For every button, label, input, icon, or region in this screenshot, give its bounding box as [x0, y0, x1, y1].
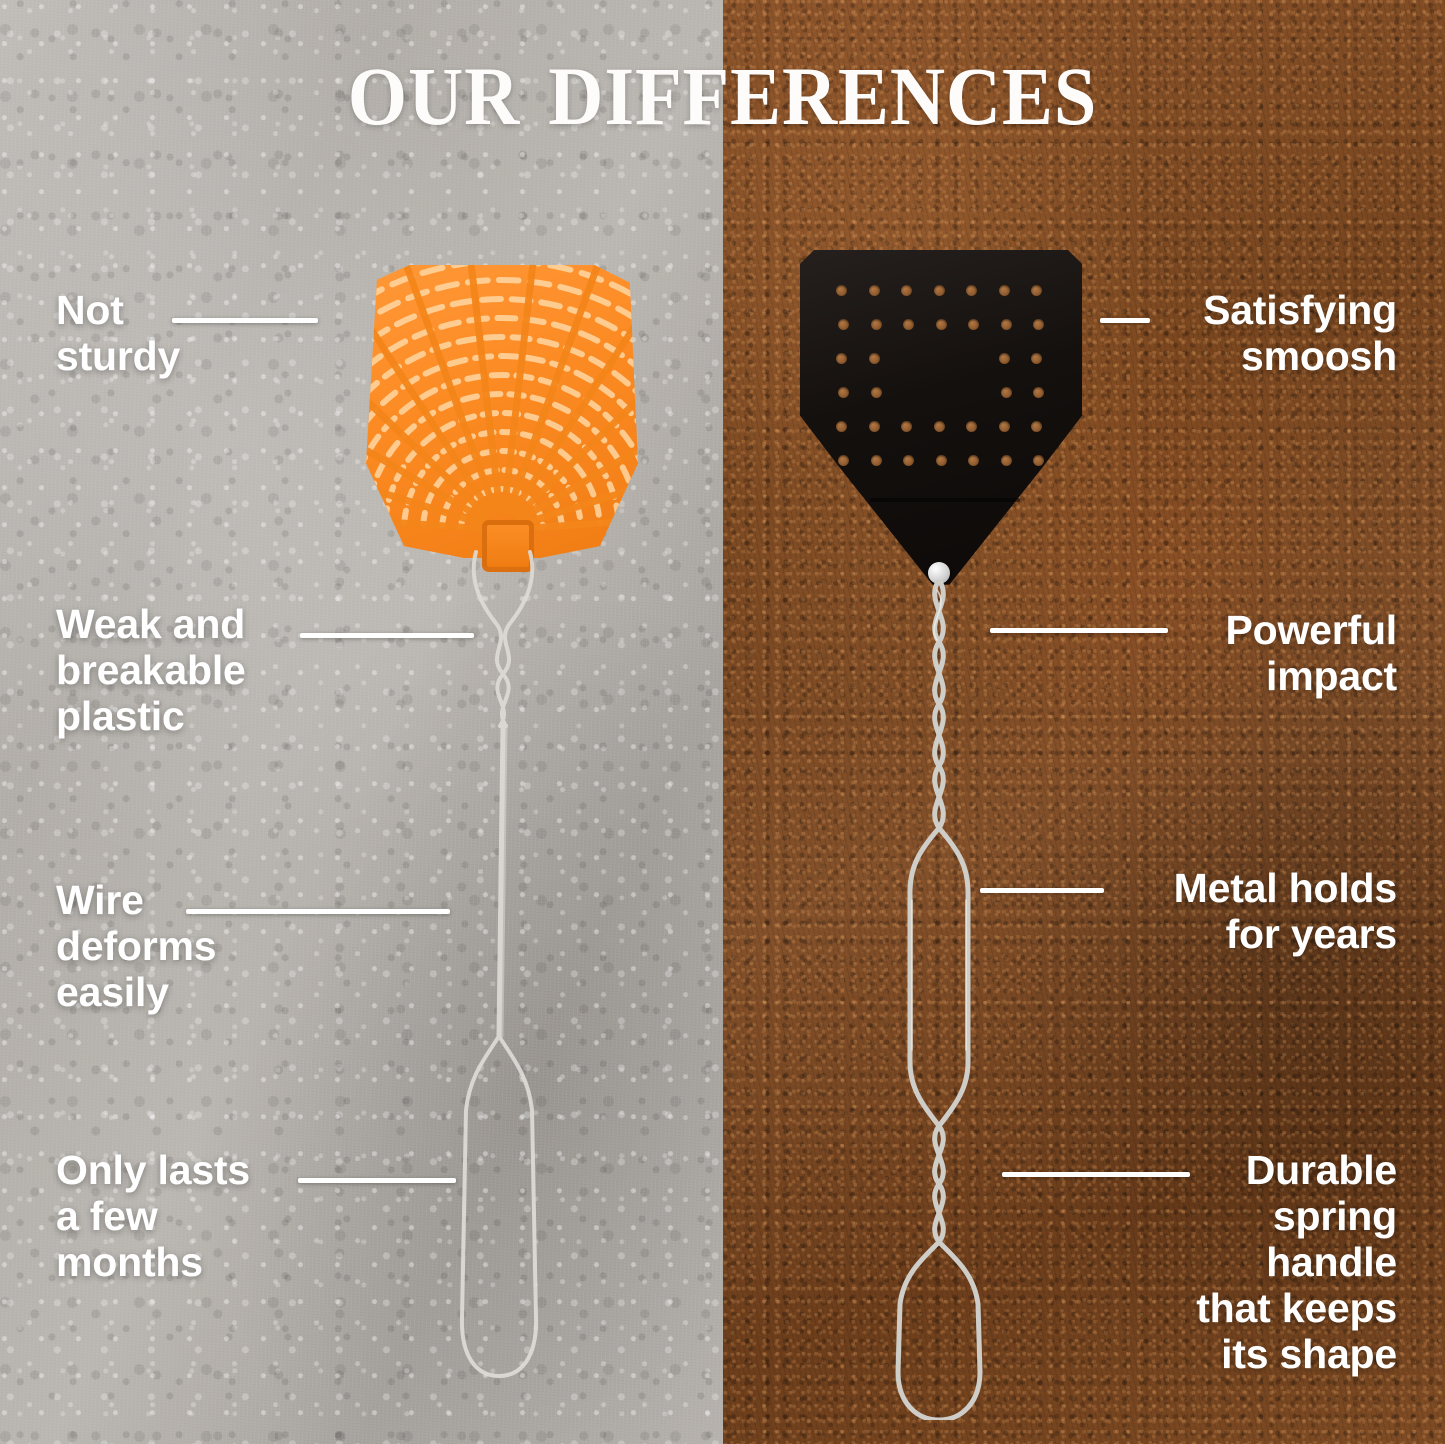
infographic-canvas: Our Differences Not sturdy Weak and brea… [0, 0, 1445, 1444]
swatter-hole [1031, 353, 1042, 364]
swatter-hole [869, 421, 880, 432]
swatter-hole [966, 285, 977, 296]
swatter-hole [934, 285, 945, 296]
metal-swatter-hole-grid [800, 250, 1082, 595]
swatter-hole [1033, 387, 1044, 398]
swatter-hole [968, 455, 979, 466]
swatter-hole [968, 319, 979, 330]
leader-line-right-1 [1100, 318, 1150, 323]
swatter-hole [999, 421, 1010, 432]
swatter-hole [869, 285, 880, 296]
swatter-hole [1001, 387, 1012, 398]
swatter-hole [871, 387, 882, 398]
swatter-hole [871, 455, 882, 466]
callout-right-3: Metal holds for years [1037, 866, 1397, 958]
callout-left-3: Wire deforms easily [56, 878, 316, 1016]
swatter-hole [901, 421, 912, 432]
swatter-hole [838, 319, 849, 330]
swatter-hole [966, 421, 977, 432]
swatter-hole [1001, 455, 1012, 466]
swatter-hole [903, 319, 914, 330]
leader-line-left-1 [172, 318, 318, 323]
plastic-fly-swatter [366, 262, 638, 1402]
swatter-hole [936, 455, 947, 466]
plastic-swatter-mesh [366, 262, 638, 558]
swatter-hole [838, 455, 849, 466]
page-title: Our Differences [58, 26, 1387, 144]
callout-right-4: Durable spring handle that keeps its sha… [1067, 1148, 1397, 1378]
swatter-hole [903, 455, 914, 466]
swatter-hole [934, 421, 945, 432]
swatter-hole [869, 353, 880, 364]
swatter-hole [836, 285, 847, 296]
metal-swatter-wire-handle [800, 580, 1082, 1420]
callout-left-4: Only lasts a few months [56, 1148, 346, 1286]
fan-slot-pattern [366, 262, 638, 558]
swatter-hole [1001, 319, 1012, 330]
swatter-hole [836, 353, 847, 364]
swatter-hole [936, 319, 947, 330]
thin-wire [366, 550, 638, 1410]
metal-fly-swatter [800, 250, 1082, 1420]
metal-swatter-brand-emboss [870, 498, 1020, 502]
swatter-hole [1031, 421, 1042, 432]
callout-left-2: Weak and breakable plastic [56, 602, 336, 740]
swatter-hole [838, 387, 849, 398]
swatter-hole [836, 421, 847, 432]
callout-right-2: Powerful impact [1077, 608, 1397, 700]
callout-right-1: Satisfying smoosh [1077, 288, 1397, 380]
callout-left-1: Not sturdy [56, 288, 296, 380]
plastic-swatter-wire-handle [366, 550, 638, 1410]
swatter-hole [999, 353, 1010, 364]
swatter-hole [999, 285, 1010, 296]
swatter-hole [1031, 285, 1042, 296]
swatter-hole [1033, 319, 1044, 330]
twisted-spring-wire [800, 580, 1082, 1420]
swatter-hole [901, 285, 912, 296]
swatter-hole [1033, 455, 1044, 466]
swatter-hole [871, 319, 882, 330]
